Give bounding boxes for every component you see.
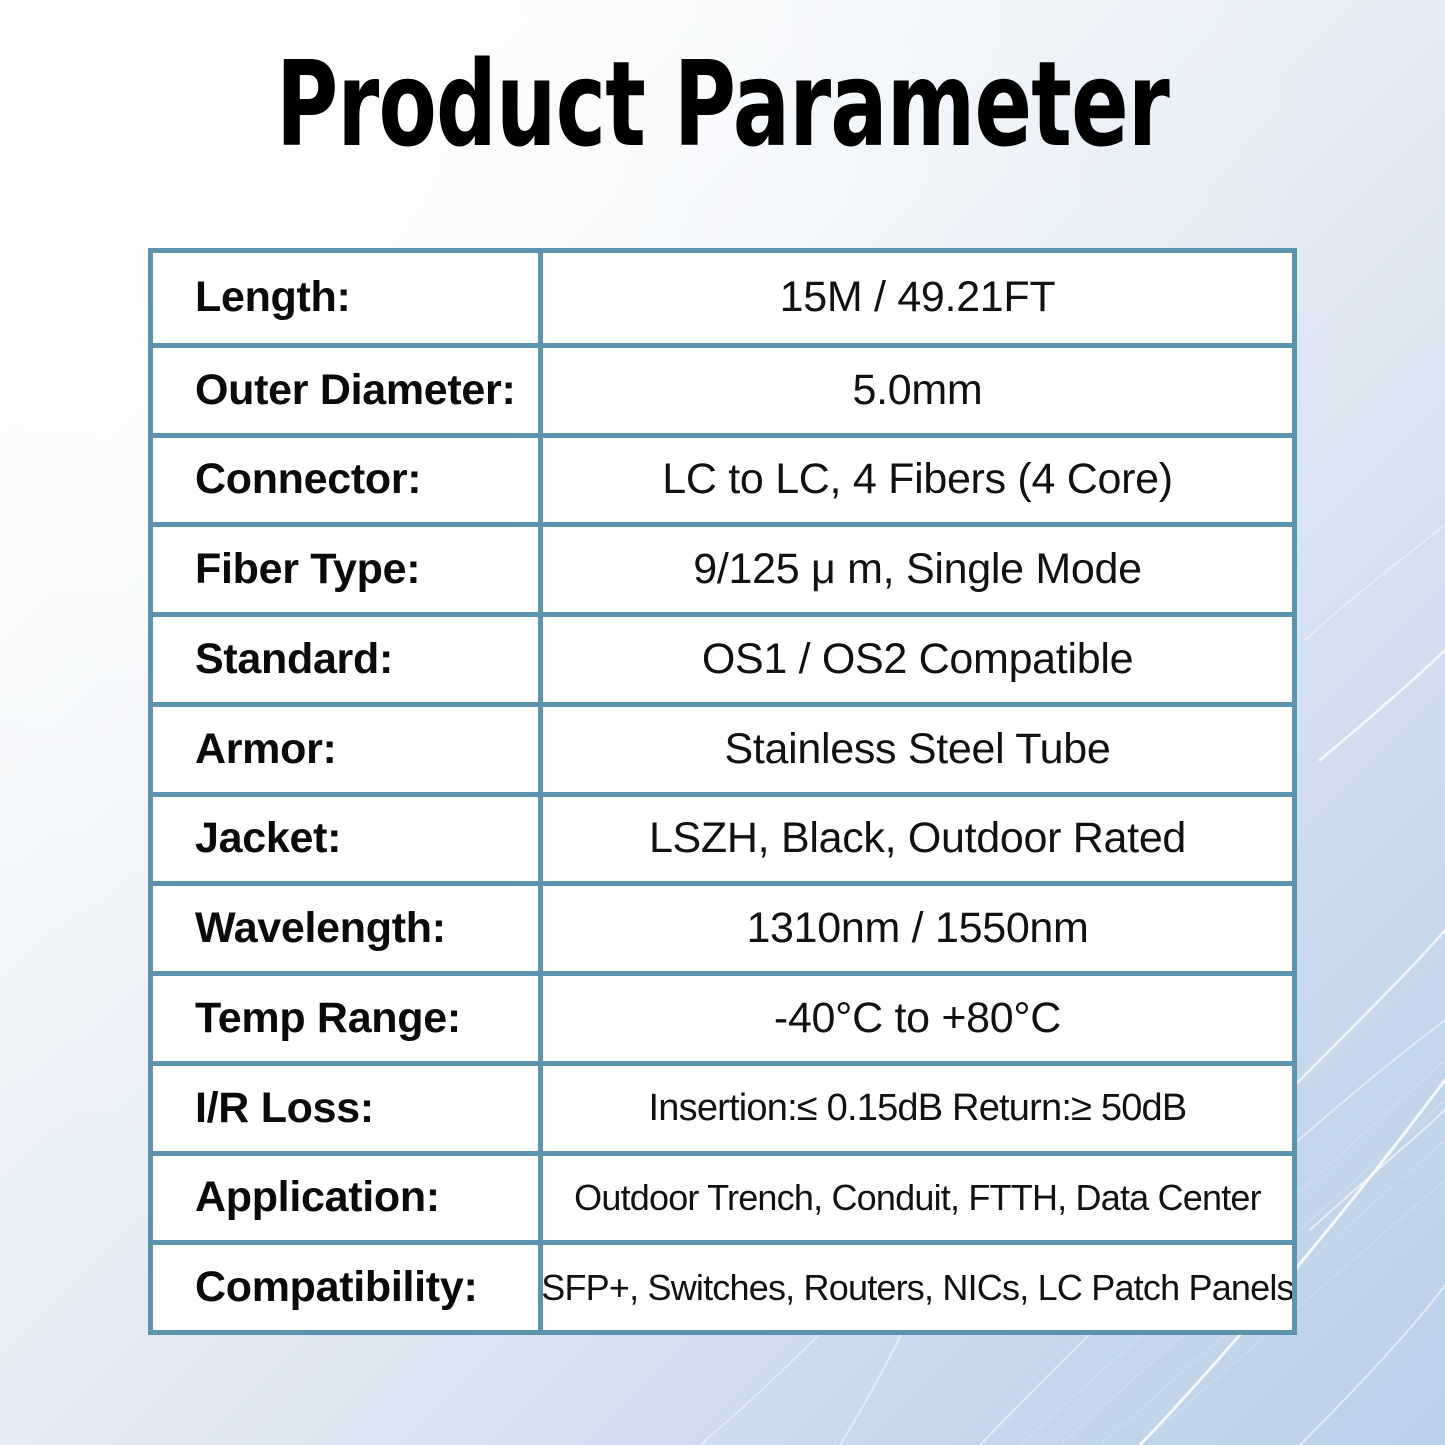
table-row: Compatibility: SFP+, Switches, Routers, …	[153, 1245, 1292, 1330]
table-row: Standard: OS1 / OS2 Compatible	[153, 617, 1292, 707]
spec-value: 9/125 μ m, Single Mode	[543, 527, 1292, 612]
spec-label: Standard:	[153, 617, 543, 702]
table-row: I/R Loss: Insertion:≤ 0.15dB Return:≥ 50…	[153, 1066, 1292, 1156]
spec-value: -40°C to +80°C	[543, 976, 1292, 1061]
spec-value: Insertion:≤ 0.15dB Return:≥ 50dB	[543, 1066, 1292, 1151]
table-row: Outer Diameter: 5.0mm	[153, 348, 1292, 438]
spec-table: Length: 15M / 49.21FT Outer Diameter: 5.…	[148, 248, 1297, 1335]
spec-value: LSZH, Black, Outdoor Rated	[543, 797, 1292, 882]
spec-label: Outer Diameter:	[153, 348, 543, 433]
spec-value: 15M / 49.21FT	[543, 253, 1292, 343]
spec-label: Armor:	[153, 707, 543, 792]
spec-value: 5.0mm	[543, 348, 1292, 433]
spec-value: 1310nm / 1550nm	[543, 886, 1292, 971]
table-row: Jacket: LSZH, Black, Outdoor Rated	[153, 797, 1292, 887]
table-row: Length: 15M / 49.21FT	[153, 253, 1292, 348]
spec-label: Wavelength:	[153, 886, 543, 971]
table-row: Wavelength: 1310nm / 1550nm	[153, 886, 1292, 976]
table-row: Temp Range: -40°C to +80°C	[153, 976, 1292, 1066]
spec-value: Outdoor Trench, Conduit, FTTH, Data Cent…	[543, 1156, 1292, 1241]
spec-value: OS1 / OS2 Compatible	[543, 617, 1292, 702]
product-parameter-card: Product Parameter Length: 15M / 49.21FT …	[0, 0, 1445, 1445]
table-row: Application: Outdoor Trench, Conduit, FT…	[153, 1156, 1292, 1246]
table-row: Connector: LC to LC, 4 Fibers (4 Core)	[153, 438, 1292, 528]
spec-label: Temp Range:	[153, 976, 543, 1061]
spec-label: Compatibility:	[153, 1245, 543, 1330]
page-title: Product Parameter	[145, 44, 1301, 164]
spec-label: Application:	[153, 1156, 543, 1241]
spec-label: I/R Loss:	[153, 1066, 543, 1151]
spec-value: LC to LC, 4 Fibers (4 Core)	[543, 438, 1292, 523]
table-row: Armor: Stainless Steel Tube	[153, 707, 1292, 797]
spec-label: Fiber Type:	[153, 527, 543, 612]
spec-label: Jacket:	[153, 797, 543, 882]
spec-value: SFP+, Switches, Routers, NICs, LC Patch …	[543, 1245, 1292, 1330]
spec-label: Length:	[153, 253, 543, 343]
spec-value: Stainless Steel Tube	[543, 707, 1292, 792]
table-row: Fiber Type: 9/125 μ m, Single Mode	[153, 527, 1292, 617]
spec-label: Connector:	[153, 438, 543, 523]
